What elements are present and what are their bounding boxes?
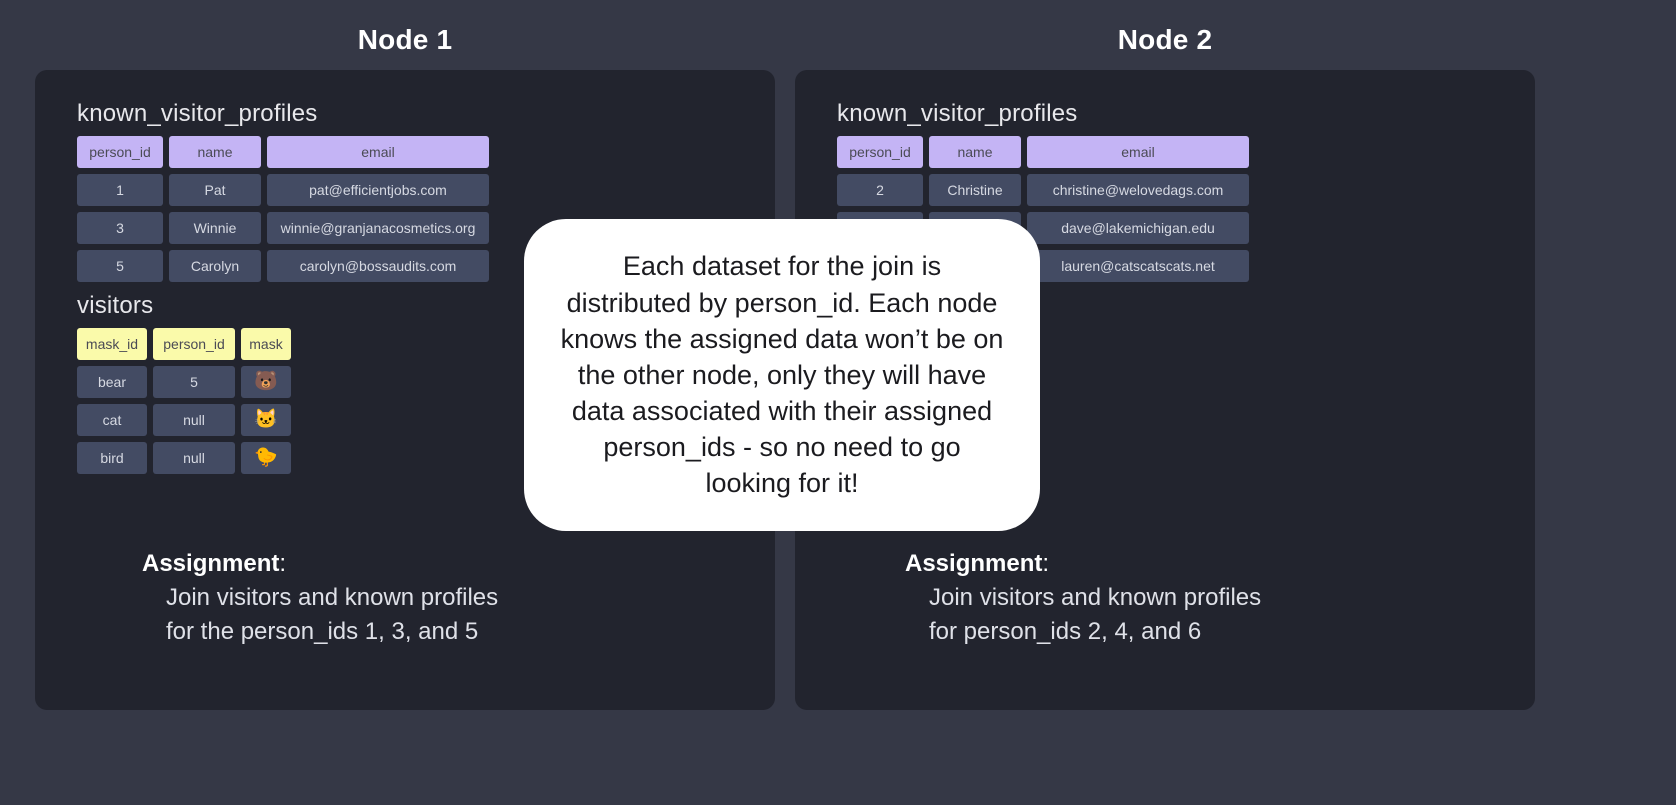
table-row: bear 5 🐻	[77, 366, 291, 398]
cell-person-id: 3	[77, 212, 163, 244]
assignment-label: Assignment	[142, 550, 279, 577]
table-row: 2 Christine christine@welovedags.com	[837, 174, 1249, 206]
assignment-colon: :	[1042, 550, 1049, 577]
explanation-callout: Each dataset for the join is distributed…	[524, 219, 1040, 531]
cell-person-id: 1	[77, 174, 163, 206]
assignment-line-2: for the person_ids 1, 3, and 5	[142, 618, 762, 646]
column-header-mask-id: mask_id	[77, 328, 147, 360]
assignment-line-2: for person_ids 2, 4, and 6	[905, 618, 1525, 646]
table-header-row: person_id name email	[77, 136, 489, 168]
column-header-email: email	[1027, 136, 1249, 168]
table-row: 1 Pat pat@efficientjobs.com	[77, 174, 489, 206]
cell-name: Carolyn	[169, 250, 261, 282]
bird-icon: 🐤	[241, 442, 291, 474]
assignment-heading: Assignment:	[142, 550, 762, 578]
cell-mask-id: cat	[77, 404, 147, 436]
assignment-heading: Assignment:	[905, 550, 1525, 578]
cell-email: lauren@catscatscats.net	[1027, 250, 1249, 282]
cell-name: Winnie	[169, 212, 261, 244]
column-header-name: name	[929, 136, 1021, 168]
column-header-person-id: person_id	[153, 328, 235, 360]
table-row: 3 Winnie winnie@granjanacosmetics.org	[77, 212, 489, 244]
table-header-row: mask_id person_id mask	[77, 328, 291, 360]
cell-name: Pat	[169, 174, 261, 206]
assignment-colon: :	[279, 550, 286, 577]
column-header-email: email	[267, 136, 489, 168]
cell-mask-id: bird	[77, 442, 147, 474]
cell-person-id: null	[153, 442, 235, 474]
cell-person-id: 2	[837, 174, 923, 206]
callout-text: Each dataset for the join is distributed…	[558, 248, 1006, 501]
cell-email: carolyn@bossaudits.com	[267, 250, 489, 282]
table-header-row: person_id name email	[837, 136, 1249, 168]
cell-person-id: 5	[153, 366, 235, 398]
cell-email: winnie@granjanacosmetics.org	[267, 212, 489, 244]
assignment-label: Assignment	[905, 550, 1042, 577]
node-1-profiles-caption: known_visitor_profiles	[77, 100, 318, 128]
node-1-title: Node 1	[35, 24, 775, 56]
cell-email: christine@welovedags.com	[1027, 174, 1249, 206]
node-1-visitors-caption: visitors	[77, 292, 153, 320]
slide-canvas: Node 1 known_visitor_profiles person_id …	[0, 0, 1676, 805]
node-1-assignment: Assignment: Join visitors and known prof…	[142, 550, 762, 646]
bear-icon: 🐻	[241, 366, 291, 398]
cell-name: Christine	[929, 174, 1021, 206]
column-header-person-id: person_id	[77, 136, 163, 168]
column-header-name: name	[169, 136, 261, 168]
table-row: cat null 🐱	[77, 404, 291, 436]
column-header-person-id: person_id	[837, 136, 923, 168]
assignment-line-1: Join visitors and known profiles	[142, 584, 762, 612]
cell-email: dave@lakemichigan.edu	[1027, 212, 1249, 244]
node-1-visitors-table: mask_id person_id mask bear 5 🐻 cat null…	[77, 328, 291, 480]
table-row: 5 Carolyn carolyn@bossaudits.com	[77, 250, 489, 282]
cell-person-id: null	[153, 404, 235, 436]
node-2-title: Node 2	[795, 24, 1535, 56]
assignment-line-1: Join visitors and known profiles	[905, 584, 1525, 612]
node-2-profiles-caption: known_visitor_profiles	[837, 100, 1078, 128]
column-header-mask: mask	[241, 328, 291, 360]
cell-mask-id: bear	[77, 366, 147, 398]
table-row: bird null 🐤	[77, 442, 291, 474]
node-1-profiles-table: person_id name email 1 Pat pat@efficient…	[77, 136, 489, 288]
node-2-assignment: Assignment: Join visitors and known prof…	[905, 550, 1525, 646]
cat-icon: 🐱	[241, 404, 291, 436]
cell-person-id: 5	[77, 250, 163, 282]
cell-email: pat@efficientjobs.com	[267, 174, 489, 206]
